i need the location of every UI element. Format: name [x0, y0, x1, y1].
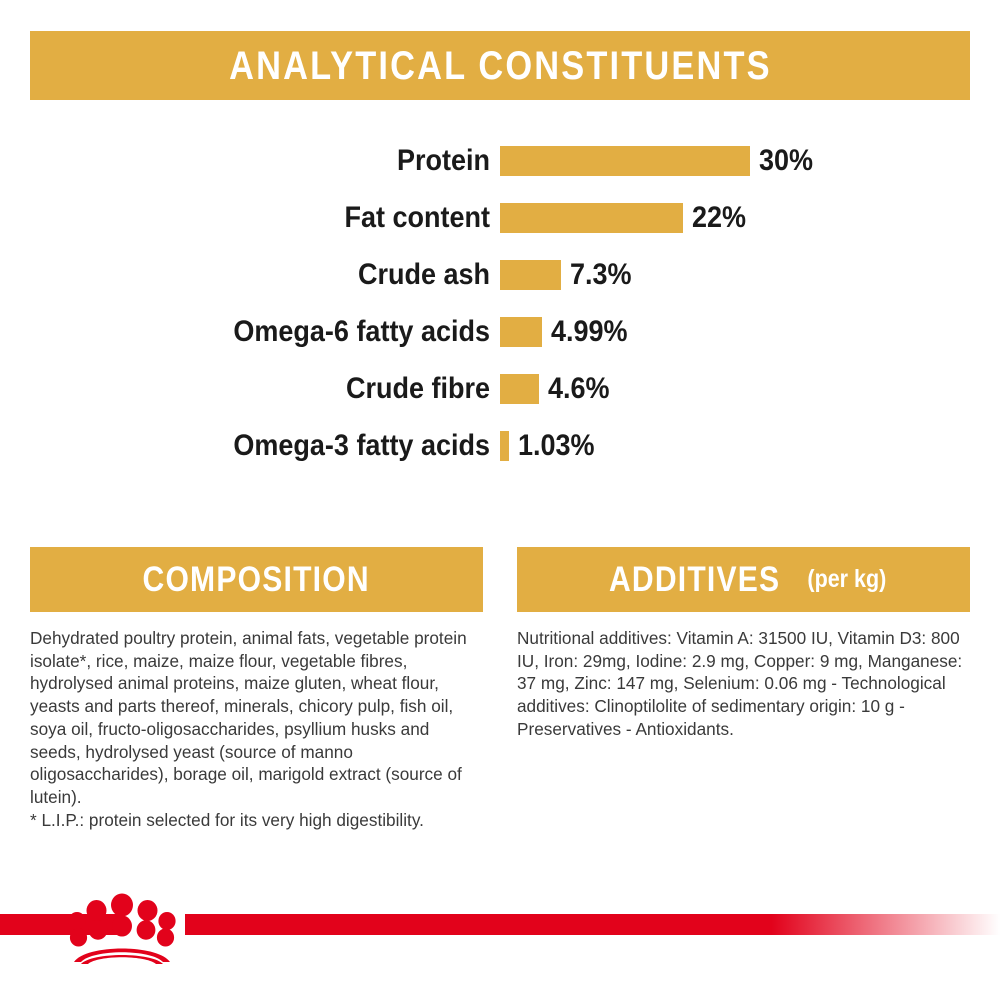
bar-track: 4.6% — [500, 374, 616, 404]
bar-fill-fat-content — [500, 203, 683, 233]
bar-label-crude-fibre: Crude fibre — [49, 374, 490, 404]
table-row: Omega-3 fatty acids 1.03% — [0, 417, 1000, 474]
bar-fill-omega-3-fatty-acids — [500, 431, 509, 461]
bar-track: 1.03% — [500, 431, 603, 461]
bar-fill-protein — [500, 146, 750, 176]
additives-heading: ADDITIVES — [608, 562, 779, 597]
composition-heading: COMPOSITION — [143, 562, 370, 597]
composition-panel-header: COMPOSITION — [30, 547, 483, 612]
bar-value-protein: 30% — [759, 146, 813, 176]
composition-body-text: Dehydrated poultry protein, animal fats,… — [30, 612, 483, 809]
additives-heading-unit: (per kg) — [807, 567, 886, 592]
bar-label-crude-ash: Crude ash — [49, 260, 490, 290]
bar-value-crude-fibre: 4.6% — [548, 374, 610, 404]
table-row: Crude ash 7.3% — [0, 246, 1000, 303]
footer-rule-right — [185, 914, 1000, 935]
bar-track: 30% — [500, 146, 819, 176]
additives-body-text: Nutritional additives: Vitamin A: 31500 … — [517, 612, 970, 741]
analytical-constituents-banner: ANALYTICAL CONSTITUENTS — [30, 31, 970, 100]
bar-track: 7.3% — [500, 260, 638, 290]
page-title: ANALYTICAL CONSTITUENTS — [229, 46, 772, 86]
additives-panel-header: ADDITIVES (per kg) — [517, 547, 970, 612]
table-row: Omega-6 fatty acids 4.99% — [0, 303, 1000, 360]
royal-canin-crown-icon — [68, 892, 176, 964]
bar-fill-omega-6-fatty-acids — [500, 317, 542, 347]
bar-value-omega-3-fatty-acids: 1.03% — [518, 431, 595, 461]
table-row: Fat content 22% — [0, 189, 1000, 246]
table-row: Protein 30% — [0, 132, 1000, 189]
bar-label-omega-6-fatty-acids: Omega-6 fatty acids — [49, 317, 490, 347]
composition-footnote: * L.I.P.: protein selected for its very … — [30, 809, 483, 832]
bar-label-omega-3-fatty-acids: Omega-3 fatty acids — [49, 431, 490, 461]
bar-track: 4.99% — [500, 317, 636, 347]
additives-panel: ADDITIVES (per kg) Nutritional additives… — [517, 547, 970, 831]
bar-fill-crude-fibre — [500, 374, 539, 404]
bar-track: 22% — [500, 203, 752, 233]
bar-fill-crude-ash — [500, 260, 561, 290]
bar-label-protein: Protein — [49, 146, 490, 176]
bar-label-fat-content: Fat content — [49, 203, 490, 233]
brand-footer — [0, 884, 1000, 974]
table-row: Crude fibre 4.6% — [0, 360, 1000, 417]
info-panels: COMPOSITION Dehydrated poultry protein, … — [30, 547, 970, 831]
bar-value-omega-6-fatty-acids: 4.99% — [551, 317, 628, 347]
analytical-constituents-chart: Protein 30% Fat content 22% Crude ash 7.… — [0, 132, 1000, 474]
bar-value-fat-content: 22% — [692, 203, 746, 233]
bar-value-crude-ash: 7.3% — [570, 260, 632, 290]
composition-panel: COMPOSITION Dehydrated poultry protein, … — [30, 547, 483, 831]
